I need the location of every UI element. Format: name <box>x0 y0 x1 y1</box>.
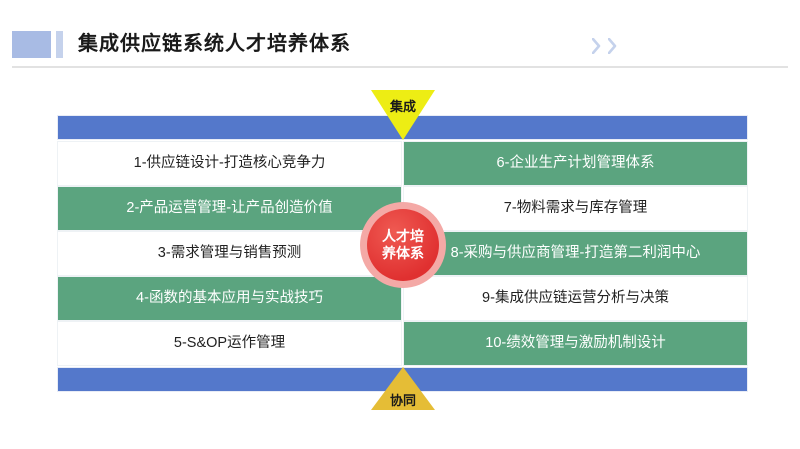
course-item-1[interactable]: 1-供应链设计-打造核心竞争力 <box>57 141 402 186</box>
chevron-right-icon <box>592 38 601 54</box>
chevron-right-icon <box>608 38 617 54</box>
center-badge: 人才培 养体系 <box>367 209 439 281</box>
course-item-6[interactable]: 6-企业生产计划管理体系 <box>403 141 748 186</box>
table-row: 1-供应链设计-打造核心竞争力 6-企业生产计划管理体系 <box>57 141 748 186</box>
course-item-10[interactable]: 10-绩效管理与激励机制设计 <box>403 321 748 366</box>
header-accent-block-large <box>12 31 51 58</box>
slide-header: 集成供应链系统人才培养体系 <box>0 0 800 72</box>
header-accent-block-small <box>56 31 63 58</box>
talent-development-diagram: 1-供应链设计-打造核心竞争力 6-企业生产计划管理体系 2-产品运营管理-让产… <box>57 90 748 410</box>
course-item-3[interactable]: 3-需求管理与销售预测 <box>57 231 402 276</box>
table-row: 5-S&OP运作管理 10-绩效管理与激励机制设计 <box>57 321 748 366</box>
course-item-8[interactable]: 8-采购与供应商管理-打造第二利润中心 <box>403 231 748 276</box>
course-item-7[interactable]: 7-物料需求与库存管理 <box>403 186 748 231</box>
center-badge-line-1: 人才培 <box>382 228 424 245</box>
course-item-4[interactable]: 4-函数的基本应用与实战技巧 <box>57 276 402 321</box>
course-item-2[interactable]: 2-产品运营管理-让产品创造价值 <box>57 186 402 231</box>
center-badge-line-2: 养体系 <box>382 245 424 262</box>
collaboration-label: 协同 <box>371 390 435 409</box>
integration-label: 集成 <box>371 96 435 115</box>
header-divider <box>12 66 788 68</box>
page-title: 集成供应链系统人才培养体系 <box>78 31 351 58</box>
course-item-9[interactable]: 9-集成供应链运营分析与决策 <box>403 276 748 321</box>
header-chevron-group <box>592 38 632 54</box>
course-item-5[interactable]: 5-S&OP运作管理 <box>57 321 402 366</box>
